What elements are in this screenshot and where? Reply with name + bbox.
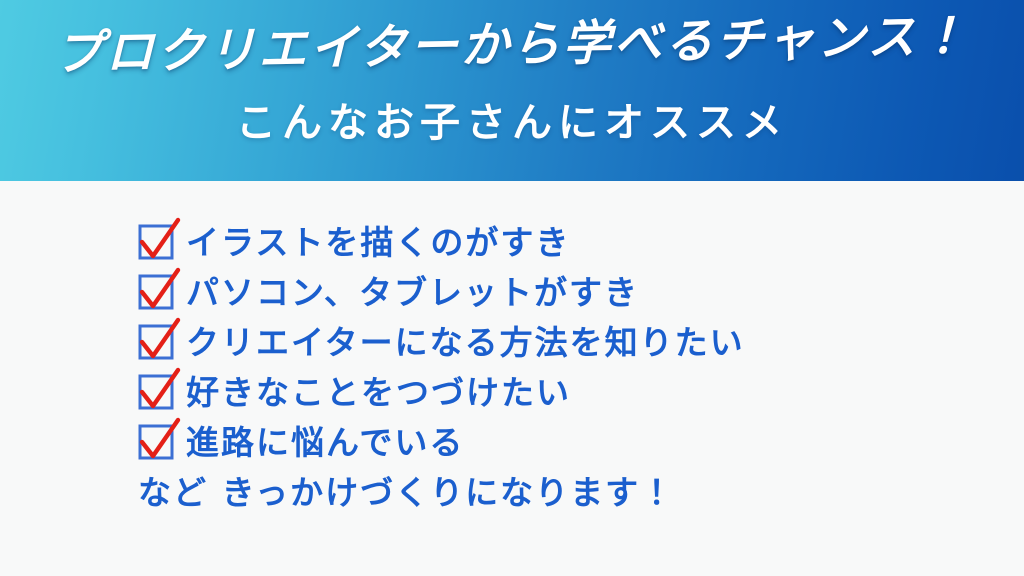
header-title: プロクリエイターから学べるチャンス！ bbox=[0, 6, 1024, 84]
checkbox-checked-icon[interactable] bbox=[136, 221, 182, 265]
list-item[interactable]: イラストを描くのがすき bbox=[136, 218, 996, 268]
list-item-label: クリエイターになる方法を知りたい bbox=[186, 321, 745, 365]
list-item[interactable]: パソコン、タブレットがすき bbox=[136, 268, 996, 318]
list-item-label: パソコン、タブレットがすき bbox=[186, 271, 639, 315]
checklist: イラストを描くのがすき パソコン、タブレットがすき クリエイターになる方法を知り… bbox=[136, 218, 996, 518]
checkbox-checked-icon[interactable] bbox=[136, 421, 182, 465]
checkbox-checked-icon[interactable] bbox=[136, 271, 182, 315]
list-item-label: 好きなことをつづけたい bbox=[186, 371, 571, 415]
header-banner: プロクリエイターから学べるチャンス！ こんなお子さんにオススメ bbox=[0, 0, 1024, 181]
checkbox-checked-icon[interactable] bbox=[136, 371, 182, 415]
closing-line-text: など きっかけづくりになります！ bbox=[138, 471, 675, 515]
list-item-label: 進路に悩んでいる bbox=[186, 421, 464, 465]
list-item-label: イラストを描くのがすき bbox=[186, 221, 570, 265]
list-item[interactable]: 進路に悩んでいる bbox=[136, 418, 996, 468]
header-subtitle: こんなお子さんにオススメ bbox=[0, 98, 1024, 148]
list-item[interactable]: クリエイターになる方法を知りたい bbox=[136, 318, 996, 368]
promo-slide: プロクリエイターから学べるチャンス！ こんなお子さんにオススメ イラストを描くの… bbox=[0, 0, 1024, 576]
closing-line: など きっかけづくりになります！ bbox=[136, 468, 996, 518]
checkbox-checked-icon[interactable] bbox=[136, 321, 182, 365]
list-item[interactable]: 好きなことをつづけたい bbox=[136, 368, 996, 418]
